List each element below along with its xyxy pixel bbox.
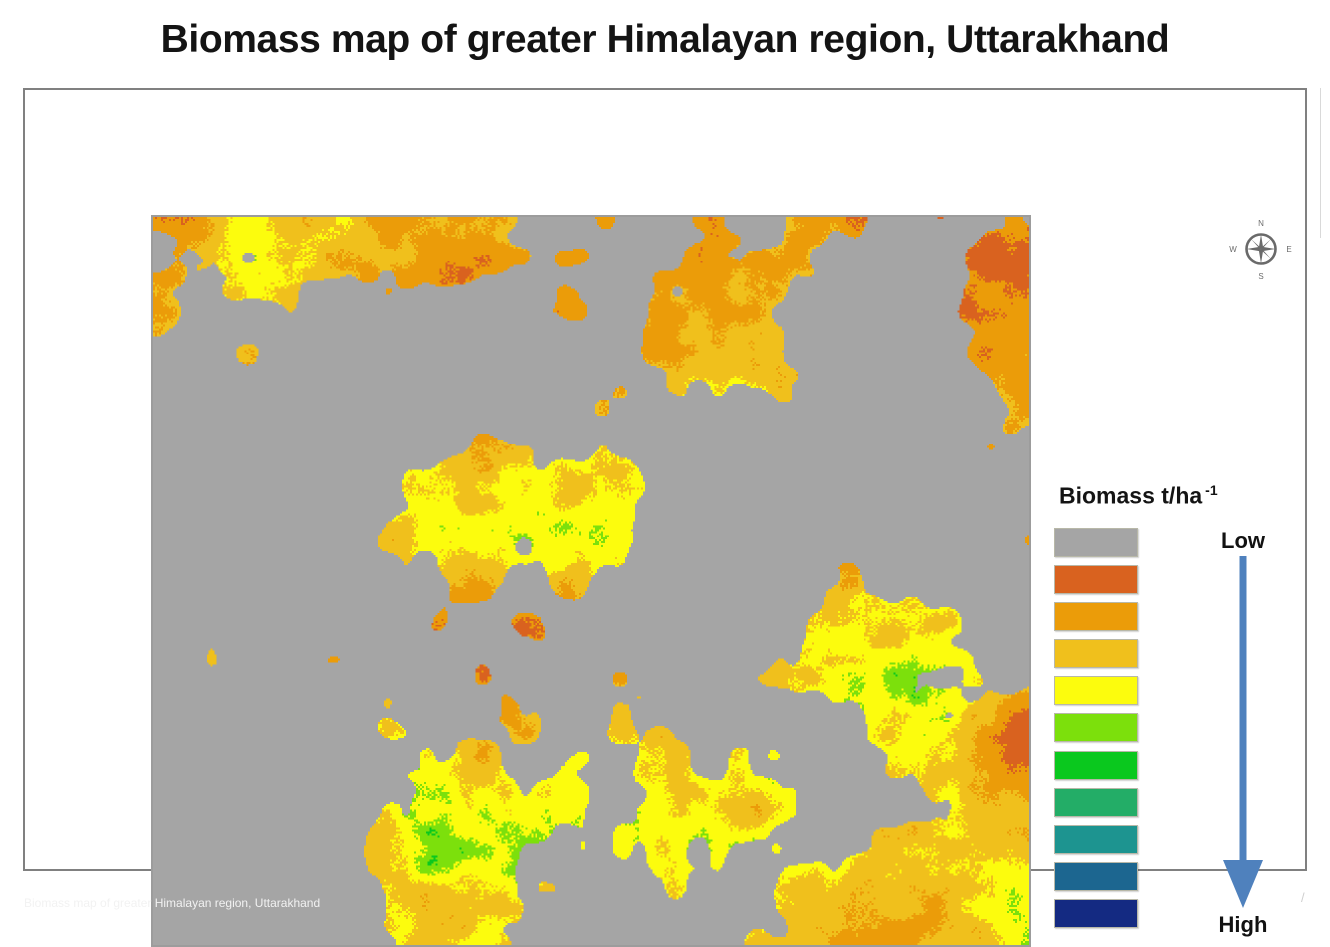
- swatch-orange[interactable]: [1054, 602, 1138, 631]
- compass-east-label: E: [1286, 245, 1291, 254]
- legend-title: Biomass t/ha-1: [1059, 482, 1218, 510]
- swatch-amber-gold[interactable]: [1054, 639, 1138, 668]
- compass-north-label: N: [1258, 219, 1264, 228]
- swatch-teal[interactable]: [1054, 825, 1138, 854]
- stray-mark: /: [1301, 890, 1305, 905]
- legend-title-superscript: -1: [1205, 482, 1217, 498]
- biomass-raster-map[interactable]: [151, 215, 1031, 947]
- swatch-yellow-green[interactable]: [1054, 713, 1138, 742]
- legend-low-label: Low: [1195, 528, 1291, 554]
- page-title: Biomass map of greater Himalayan region,…: [0, 18, 1330, 62]
- compass-south-label: S: [1258, 272, 1263, 281]
- swatch-yellow[interactable]: [1054, 676, 1138, 705]
- swatch-steel-blue[interactable]: [1054, 862, 1138, 891]
- legend-title-text: Biomass t/ha: [1059, 483, 1202, 509]
- biomass-raster-canvas[interactable]: [153, 217, 1029, 945]
- compass-rose-icon: N S E W: [1228, 216, 1294, 282]
- swatch-green[interactable]: [1054, 751, 1138, 780]
- legend-swatch-column: [1054, 528, 1138, 936]
- legend-gradient-arrow: Low High: [1195, 522, 1305, 942]
- swatch-burnt-orange[interactable]: [1054, 565, 1138, 594]
- swatch-nodata-gray[interactable]: [1054, 528, 1138, 557]
- slide-edge-sliver: [1320, 88, 1321, 238]
- slide-frame: N S E W Biomass t/ha-1 Low High /: [23, 88, 1307, 871]
- legend-panel: Biomass t/ha-1 Low High /: [1045, 482, 1305, 947]
- swatch-sea-green[interactable]: [1054, 788, 1138, 817]
- down-arrow-icon: [1217, 556, 1269, 916]
- legend-high-label: High: [1195, 912, 1291, 938]
- bottom-caption-strip: Biomass map of greater Himalayan region,…: [24, 896, 1294, 910]
- compass-west-label: W: [1229, 245, 1237, 254]
